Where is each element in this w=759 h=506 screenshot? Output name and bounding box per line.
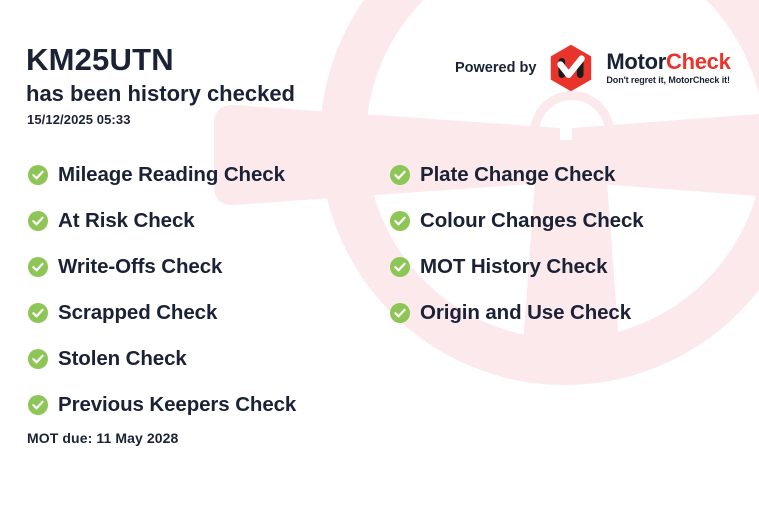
green-check-circle-icon (28, 303, 48, 323)
green-check-circle-icon (28, 211, 48, 231)
checks-left-column: Mileage Reading Check At Risk Check Writ… (28, 152, 296, 428)
check-label: Origin and Use Check (420, 301, 631, 325)
green-check-circle-icon (390, 165, 410, 185)
check-row: At Risk Check (28, 198, 296, 244)
check-row: MOT History Check (390, 244, 644, 290)
check-label: MOT History Check (420, 255, 607, 279)
check-row: Write-Offs Check (28, 244, 296, 290)
check-label: Colour Changes Check (420, 209, 644, 233)
green-check-circle-icon (28, 349, 48, 369)
brand-block: Powered by MotorCheck Don't regret it, M… (455, 44, 731, 92)
check-row: Mileage Reading Check (28, 152, 296, 198)
header: KM25UTN has been history checked 15/12/2… (26, 44, 426, 127)
vehicle-registration-plate: KM25UTN (26, 44, 426, 77)
check-timestamp: 15/12/2025 05:33 (27, 112, 426, 127)
check-row: Stolen Check (28, 336, 296, 382)
wordmark-text: MotorCheck (606, 51, 730, 73)
powered-by-label: Powered by (455, 60, 536, 76)
green-check-circle-icon (390, 257, 410, 277)
green-check-circle-icon (390, 303, 410, 323)
check-row: Plate Change Check (390, 152, 644, 198)
check-label: Write-Offs Check (58, 255, 222, 279)
motorcheck-wordmark: MotorCheck Don't regret it, MotorCheck i… (606, 51, 730, 85)
check-label: Previous Keepers Check (58, 393, 296, 417)
wordmark-check: Check (666, 49, 731, 74)
checks-right-column: Plate Change Check Colour Changes Check … (390, 152, 644, 336)
green-check-circle-icon (390, 211, 410, 231)
check-row: Previous Keepers Check (28, 382, 296, 428)
check-label: Scrapped Check (58, 301, 217, 325)
history-check-banner: KM25UTN has been history checked 15/12/2… (0, 0, 759, 506)
mot-due-text: MOT due: 11 May 2028 (27, 430, 178, 446)
check-label: Mileage Reading Check (58, 163, 285, 187)
check-label: At Risk Check (58, 209, 195, 233)
header-subtitle: has been history checked (26, 81, 426, 107)
brand-tagline: Don't regret it, MotorCheck it! (606, 76, 730, 85)
wordmark-motor: Motor (606, 49, 666, 74)
check-row: Colour Changes Check (390, 198, 644, 244)
motorcheck-hexagon-m-check-icon (549, 44, 593, 92)
check-label: Stolen Check (58, 347, 187, 371)
check-row: Origin and Use Check (390, 290, 644, 336)
green-check-circle-icon (28, 257, 48, 277)
check-row: Scrapped Check (28, 290, 296, 336)
green-check-circle-icon (28, 395, 48, 415)
green-check-circle-icon (28, 165, 48, 185)
check-label: Plate Change Check (420, 163, 615, 187)
